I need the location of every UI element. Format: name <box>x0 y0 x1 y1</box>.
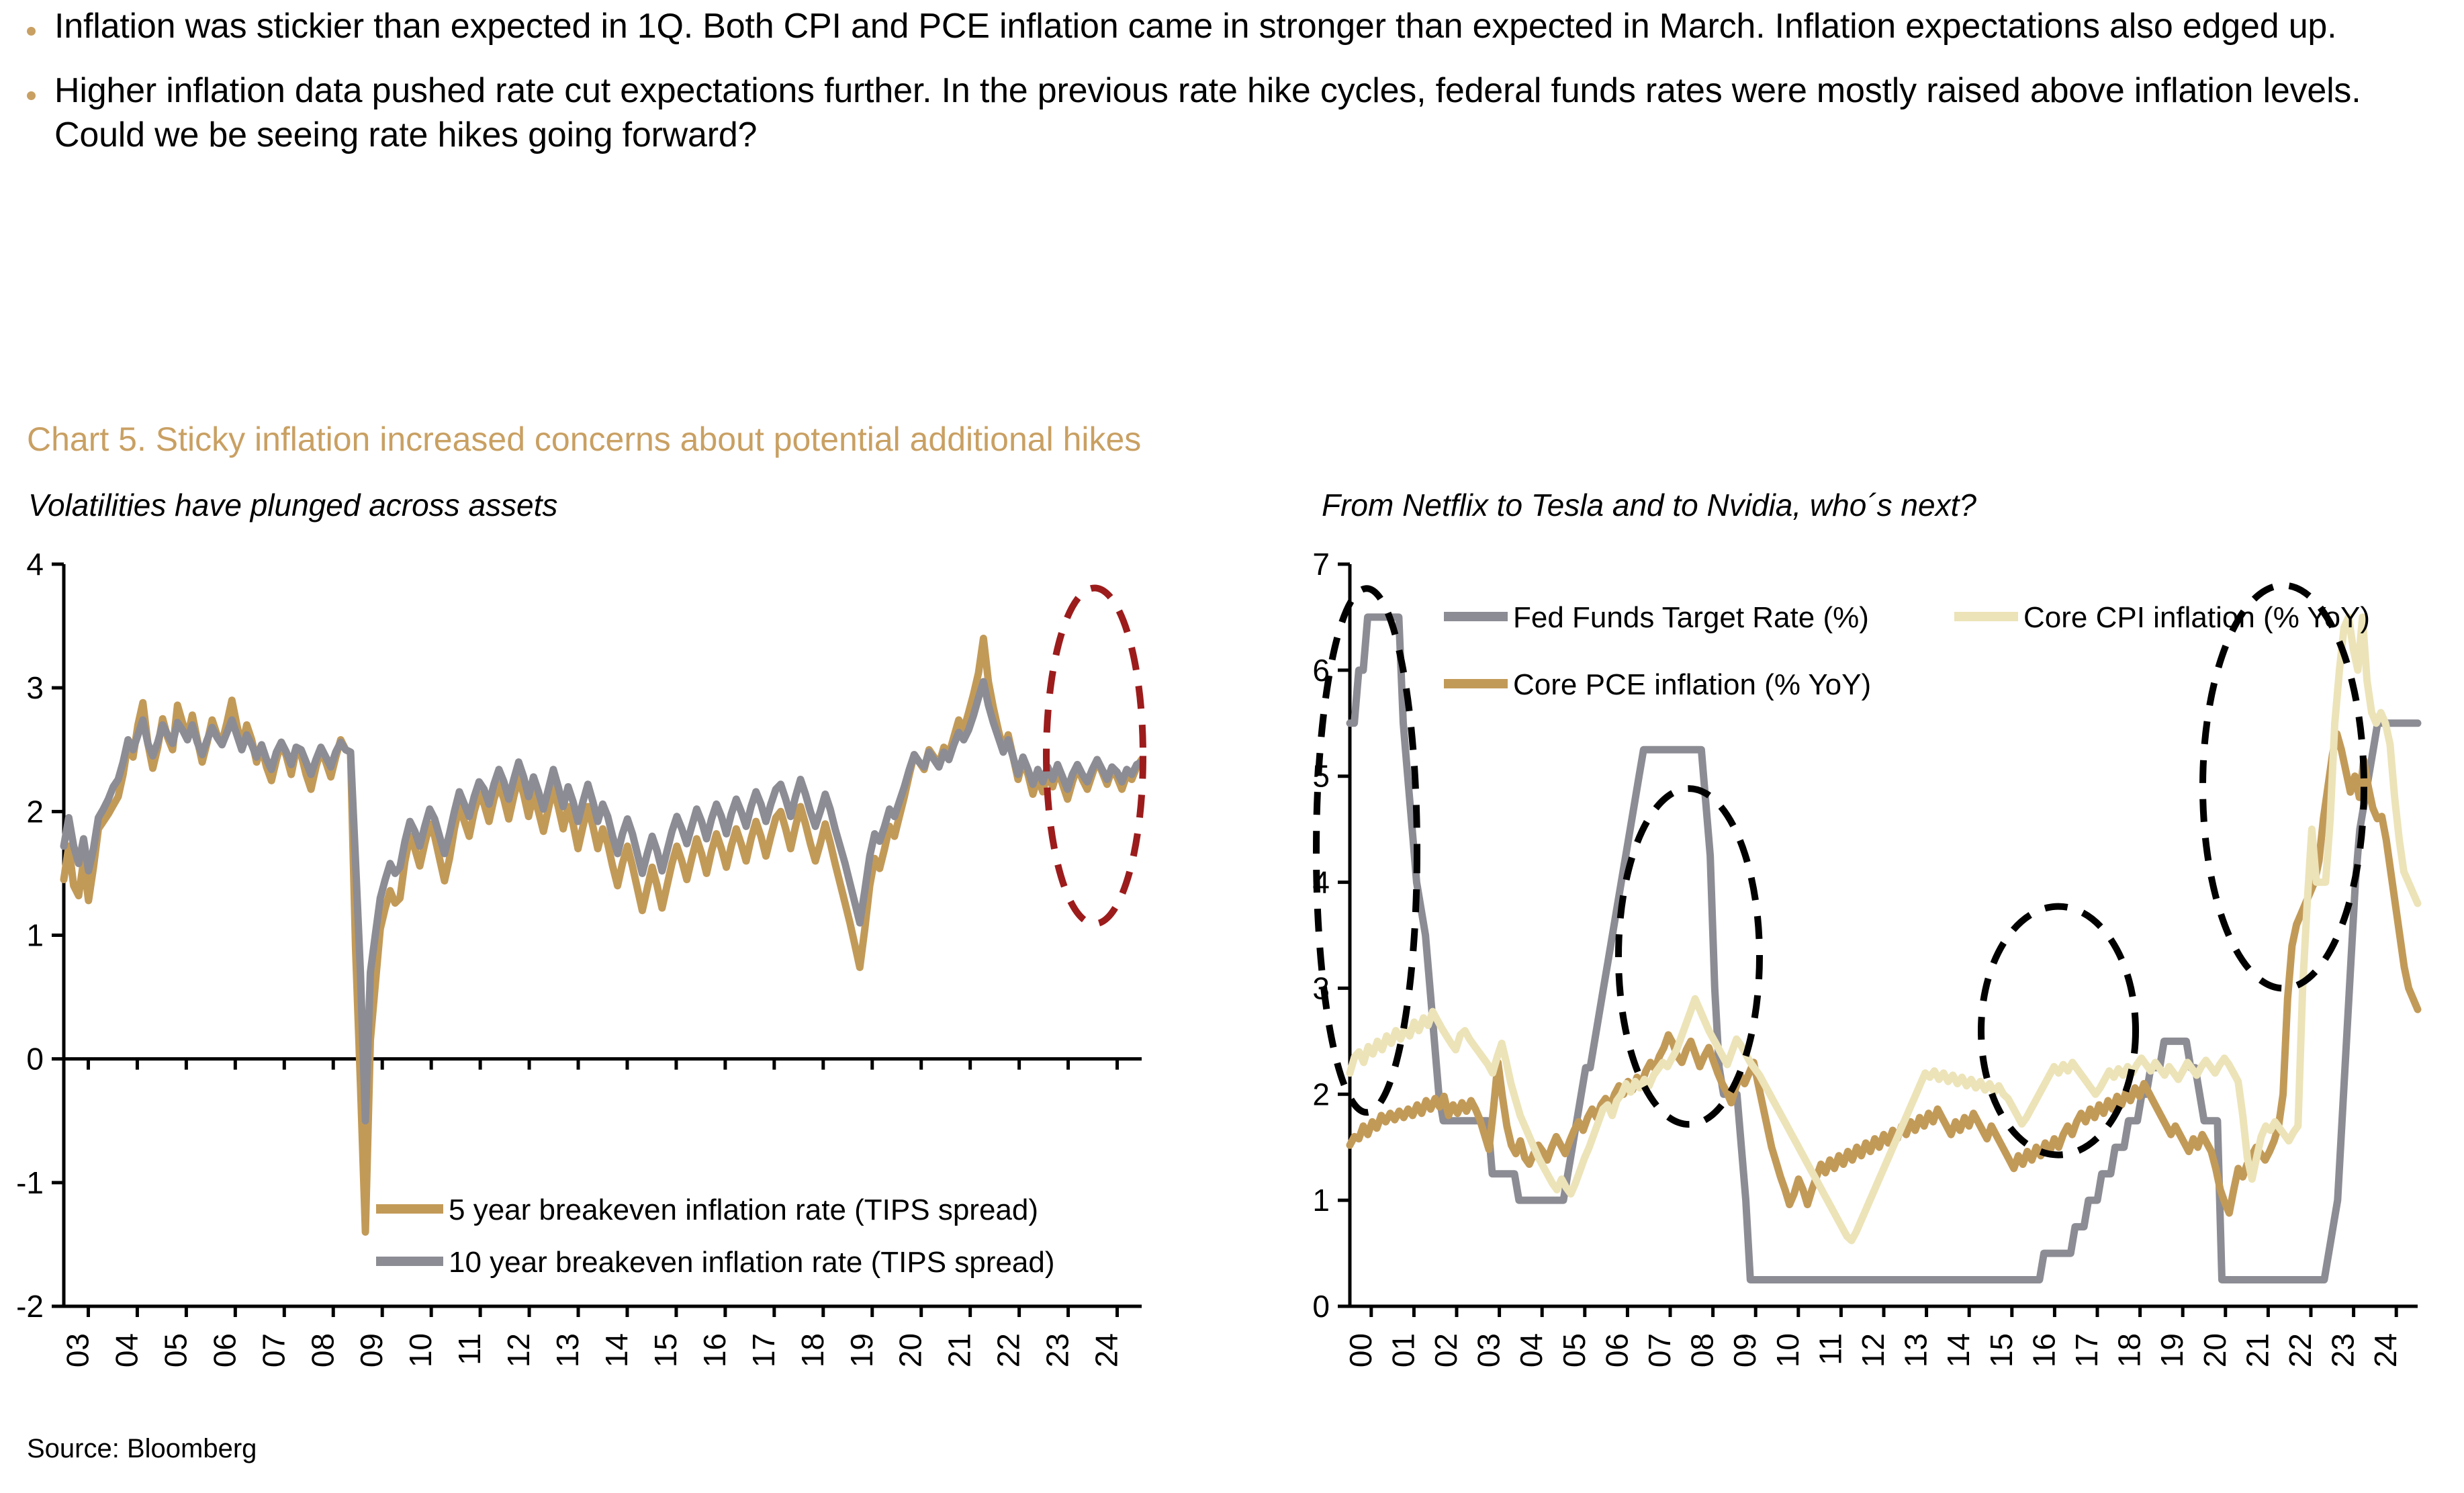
legend-label-1: Core PCE inflation (% YoY) <box>1513 668 1871 701</box>
bullet-list: Inflation was stickier than expected in … <box>27 4 2438 177</box>
legend-label-1: 10 year breakeven inflation rate (TIPS s… <box>449 1246 1054 1279</box>
x-tick-label: 22 <box>991 1333 1026 1367</box>
x-tick-label: 03 <box>60 1333 95 1367</box>
x-tick-label: 09 <box>1727 1333 1762 1367</box>
x-tick-label: 17 <box>746 1333 781 1367</box>
bullet-text-2: Higher inflation data pushed rate cut ex… <box>54 69 2438 157</box>
list-item: Inflation was stickier than expected in … <box>27 4 2438 48</box>
right-chart-svg: 76543210 0001020304050607080910111213141… <box>1276 537 2464 1424</box>
x-tick-label: 05 <box>1557 1333 1592 1367</box>
right-y-axis-ticks: 76543210 <box>1312 547 1350 1324</box>
annotation-ellipse-2 <box>1981 907 2136 1155</box>
legend-label-0: 5 year breakeven inflation rate (TIPS sp… <box>449 1193 1038 1226</box>
x-tick-label: 14 <box>599 1333 634 1367</box>
series-line-1 <box>64 682 1142 1121</box>
x-tick-label: 08 <box>305 1333 340 1367</box>
x-tick-label: 10 <box>403 1333 438 1367</box>
left-chart-legend: 5 year breakeven inflation rate (TIPS sp… <box>376 1193 1054 1279</box>
y-tick-label: 2 <box>1312 1077 1330 1112</box>
x-tick-label: 21 <box>942 1333 977 1367</box>
right-chart-legend: Fed Funds Target Rate (%)Core PCE inflat… <box>1444 601 2370 701</box>
x-tick-label: 23 <box>1040 1333 1075 1367</box>
x-tick-label: 02 <box>1428 1333 1463 1367</box>
y-tick-label: -2 <box>16 1289 44 1324</box>
y-tick-label: -1 <box>16 1165 44 1200</box>
x-tick-label: 03 <box>1471 1333 1506 1367</box>
x-tick-label: 12 <box>1856 1333 1890 1367</box>
x-tick-label: 08 <box>1685 1333 1720 1367</box>
x-tick-label: 18 <box>795 1333 830 1367</box>
x-tick-label: 06 <box>1599 1333 1634 1367</box>
bullet-text-1: Inflation was stickier than expected in … <box>54 4 2438 48</box>
series-line-0 <box>1350 617 2418 1280</box>
x-tick-label: 19 <box>2154 1333 2189 1367</box>
legend-label-2: Core CPI inflation (% YoY) <box>2023 601 2370 634</box>
source-note: Source: Bloomberg <box>27 1434 257 1464</box>
bullet-dot-icon <box>27 91 36 100</box>
y-tick-label: 7 <box>1312 547 1330 582</box>
y-tick-label: 0 <box>1312 1289 1330 1324</box>
chart-title: Chart 5. Sticky inflation increased conc… <box>27 420 1141 459</box>
legend-label-0: Fed Funds Target Rate (%) <box>1513 601 1869 634</box>
x-tick-label: 14 <box>1941 1333 1976 1367</box>
x-tick-label: 21 <box>2240 1333 2275 1367</box>
x-tick-label: 16 <box>697 1333 732 1367</box>
bullet-dot-icon <box>27 27 36 36</box>
x-tick-label: 00 <box>1343 1333 1378 1367</box>
x-tick-label: 09 <box>354 1333 389 1367</box>
x-tick-label: 20 <box>2197 1333 2232 1367</box>
x-tick-label: 13 <box>550 1333 585 1367</box>
x-tick-label: 04 <box>1514 1333 1549 1367</box>
x-tick-label: 11 <box>1813 1333 1847 1365</box>
y-tick-label: 2 <box>26 794 44 829</box>
x-tick-label: 19 <box>844 1333 879 1367</box>
left-panel-subtitle: Volatilities have plunged across assets <box>28 487 557 523</box>
y-tick-label: 0 <box>26 1042 44 1077</box>
x-tick-label: 06 <box>207 1333 242 1367</box>
left-y-axis-ticks: 43210-1-2 <box>16 547 64 1324</box>
y-tick-label: 1 <box>1312 1183 1330 1218</box>
left-chart-panel: 43210-1-2 030405060708091011121314151617… <box>0 537 1216 1424</box>
left-series-group <box>64 639 1142 1232</box>
x-tick-label: 17 <box>2069 1333 2104 1367</box>
x-tick-label: 01 <box>1385 1333 1420 1367</box>
x-tick-label: 05 <box>158 1333 193 1367</box>
annotation-ellipse-3 <box>2203 586 2364 989</box>
x-tick-label: 22 <box>2283 1333 2318 1367</box>
x-tick-label: 13 <box>1899 1333 1933 1367</box>
x-tick-label: 15 <box>1984 1333 2019 1367</box>
x-tick-label: 07 <box>256 1333 291 1367</box>
annotation-ellipse-red <box>1046 588 1143 923</box>
x-tick-label: 07 <box>1642 1333 1677 1367</box>
x-tick-label: 11 <box>452 1333 487 1365</box>
x-tick-label: 04 <box>109 1333 144 1367</box>
y-tick-label: 4 <box>26 547 44 582</box>
x-tick-label: 10 <box>1770 1333 1805 1367</box>
right-chart-panel: 76543210 0001020304050607080910111213141… <box>1276 537 2464 1424</box>
annotation-ellipse-1 <box>1618 788 1760 1124</box>
x-tick-label: 16 <box>2026 1333 2061 1367</box>
x-tick-label: 20 <box>893 1333 928 1367</box>
x-tick-label: 24 <box>1089 1333 1124 1367</box>
x-tick-label: 24 <box>2368 1333 2403 1367</box>
list-item: Higher inflation data pushed rate cut ex… <box>27 69 2438 157</box>
right-series-group <box>1350 617 2418 1280</box>
x-tick-label: 18 <box>2112 1333 2147 1367</box>
x-tick-label: 23 <box>2326 1333 2361 1367</box>
right-panel-subtitle: From Netflix to Tesla and to Nvidia, who… <box>1322 487 1976 523</box>
x-tick-label: 12 <box>501 1333 536 1367</box>
right-x-axis-ticks: 0001020304050607080910111213141516171819… <box>1343 1306 2403 1367</box>
left-chart-svg: 43210-1-2 030405060708091011121314151617… <box>0 537 1216 1424</box>
x-tick-label: 15 <box>648 1333 683 1367</box>
y-tick-label: 3 <box>26 670 44 705</box>
y-tick-label: 1 <box>26 918 44 953</box>
